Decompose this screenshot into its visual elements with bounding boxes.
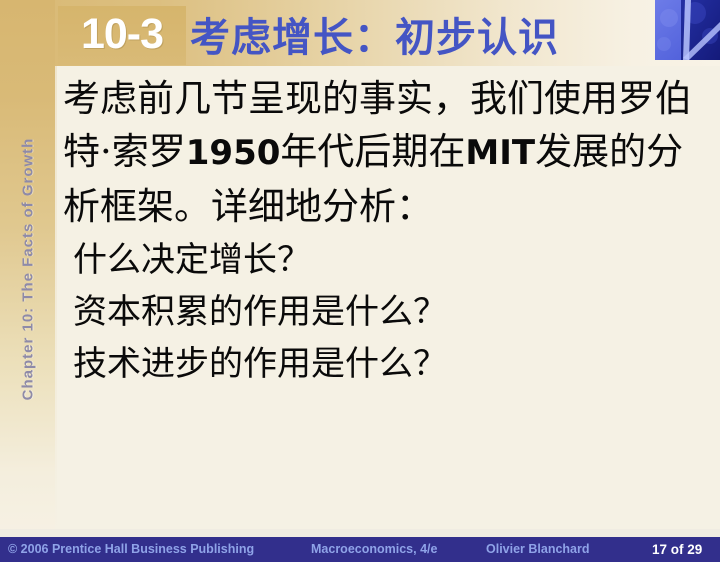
bullet-list: 什么决定增长？ 资本积累的作用是什么？ 技术进步的作用是什么？: [73, 234, 713, 390]
paragraph-segment-2: 年代后期在: [280, 130, 465, 173]
sidebar-chapter-label-text: Chapter 10: The Facts of Growth: [19, 137, 36, 400]
footer-content: © 2006 Prentice Hall Business Publishing…: [0, 537, 720, 562]
sidebar-chapter-label: Chapter 10: The Facts of Growth: [0, 0, 55, 537]
page-title: 考虑增长：初步认识: [190, 12, 559, 64]
footer-book-title: Macroeconomics, 4/e: [311, 537, 437, 562]
chapter-number: 10-3: [58, 5, 186, 64]
body-paragraph: 考虑前几节呈现的事实，我们使用罗伯特·索罗1950年代后期在MIT发展的分析框架…: [63, 72, 713, 233]
slide-content: 考虑前几节呈现的事实，我们使用罗伯特·索罗1950年代后期在MIT发展的分析框架…: [57, 66, 720, 537]
slide: 10-3 考虑增长：初步认识: [0, 0, 720, 562]
corner-decoration-graphic: [655, 0, 720, 60]
footer-page-number: 17 of 29: [652, 537, 702, 562]
footer-band: © 2006 Prentice Hall Business Publishing…: [0, 537, 720, 562]
list-item: 什么决定增长？: [73, 234, 713, 286]
footer-copyright: © 2006 Prentice Hall Business Publishing: [8, 537, 254, 562]
list-item: 资本积累的作用是什么？: [73, 286, 713, 338]
footer-author: Olivier Blanchard: [486, 537, 590, 562]
footer-gap: [0, 529, 720, 537]
paragraph-bold-mit: MIT: [465, 133, 535, 173]
paragraph-bold-year: 1950: [186, 133, 281, 173]
list-item: 技术进步的作用是什么？: [73, 338, 713, 390]
